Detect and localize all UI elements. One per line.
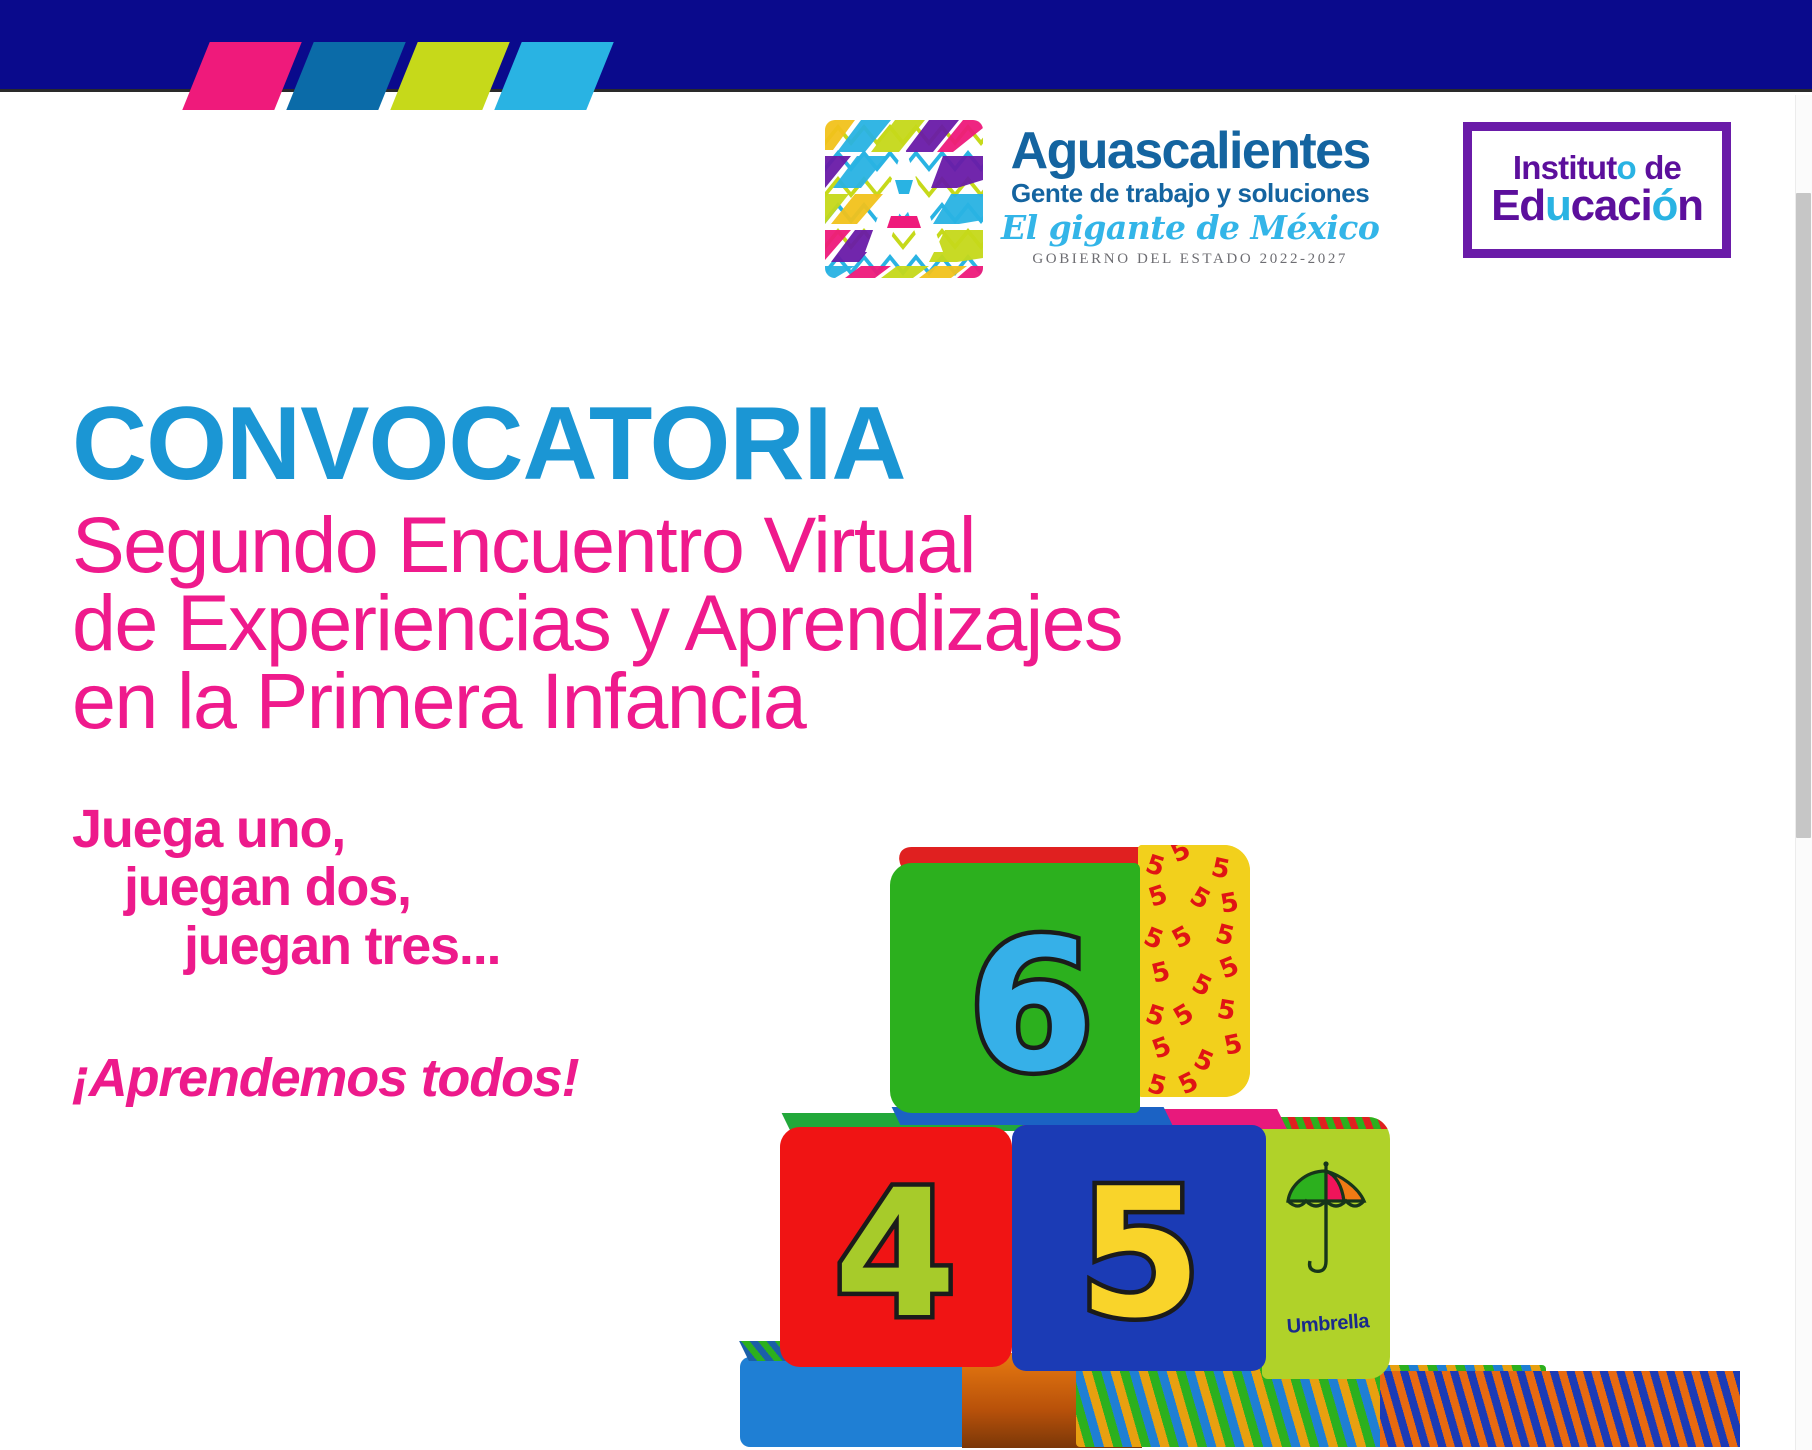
institute-badge-line1: Instituto de (1513, 151, 1681, 185)
institute-badge-line2: Educación (1491, 184, 1703, 229)
subtitle-line-1: Segundo Encuentro Virtual (72, 506, 1392, 584)
block-five-front-face: 5 (1012, 1125, 1266, 1371)
state-script-line: El gigante de México (1001, 210, 1379, 246)
block-five-digit: 5 (1078, 1165, 1202, 1343)
vertical-scrollbar-track[interactable] (1795, 95, 1812, 1450)
block-six-digit: 6 (968, 915, 1095, 1097)
block-four: 4 (780, 1113, 1025, 1378)
state-logo-wordmark: Aguascalientes Gente de trabajo y soluci… (1001, 120, 1379, 268)
chevron-a-monogram-icon (825, 120, 983, 278)
block-four-digit: 4 (834, 1167, 956, 1343)
institute-badge: Instituto de Educación (1463, 122, 1731, 258)
subtitle-line-3: en la Primera Infancia (72, 662, 1392, 740)
banner-stripe-group (0, 42, 1812, 110)
state-name: Aguascalientes (1011, 126, 1370, 177)
stripe-lime-icon (390, 42, 509, 110)
block-six-front-face: 6 (890, 863, 1140, 1113)
poster-page: Aguascalientes Gente de trabajo y soluci… (0, 0, 1812, 1450)
vertical-scrollbar-thumb[interactable] (1796, 193, 1811, 838)
block-four-front-face: 4 (780, 1127, 1012, 1367)
stripe-blue-icon (286, 42, 405, 110)
header-logos: Aguascalientes Gente de trabajo y soluci… (0, 120, 1812, 290)
stripe-magenta-icon (182, 42, 301, 110)
state-government-logo: Aguascalientes Gente de trabajo y soluci… (825, 120, 1379, 278)
stacked-number-blocks-photo: 4 Umbrella 5 (740, 845, 1750, 1450)
top-banner (0, 0, 1812, 92)
block-six: 5 5 5 5 5 5 5 5 5 5 5 5 5 5 5 (890, 845, 1250, 1120)
block-five: 5 (1012, 1107, 1312, 1382)
base-block-far-striped (1380, 1371, 1740, 1447)
state-government-line: GOBIERNO DEL ESTADO 2022-2027 (1032, 251, 1348, 268)
stripe-cyan-icon (494, 42, 613, 110)
subtitle-line-2: de Experiencias y Aprendizajes (72, 584, 1392, 662)
page-title: CONVOCATORIA (72, 392, 1392, 496)
state-tagline: Gente de trabajo y soluciones (1011, 179, 1369, 209)
block-six-side-face: 5 5 5 5 5 5 5 5 5 5 5 5 5 5 5 (1138, 845, 1250, 1097)
headline-block: CONVOCATORIA Segundo Encuentro Virtual d… (72, 392, 1392, 741)
